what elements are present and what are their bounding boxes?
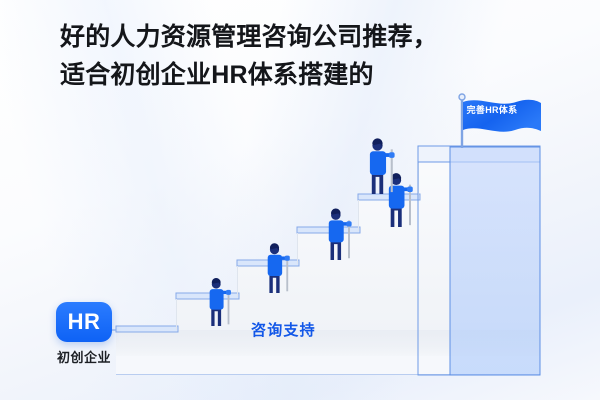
climber-figure <box>210 278 231 326</box>
climber-figure <box>268 243 290 293</box>
support-label: 咨询支持 <box>251 319 316 340</box>
hr-badge: HR <box>56 302 112 342</box>
hr-badge-group: HR 初创企业 <box>56 302 112 366</box>
headline-line-1: 好的人力资源管理咨询公司推荐， <box>60 23 438 51</box>
headline-line-2: 适合初创企业HR体系搭建的 <box>60 56 480 94</box>
flag-banner <box>463 100 541 132</box>
hr-badge-caption: 初创企业 <box>56 347 112 366</box>
page-title: 好的人力资源管理咨询公司推荐， 适合初创企业HR体系搭建的 <box>60 18 480 94</box>
illustration-canvas: 好的人力资源管理咨询公司推荐， 适合初创企业HR体系搭建的 HR 初创企业 咨询… <box>0 0 600 400</box>
climber-figure <box>370 138 395 194</box>
climber-figure <box>329 208 352 260</box>
